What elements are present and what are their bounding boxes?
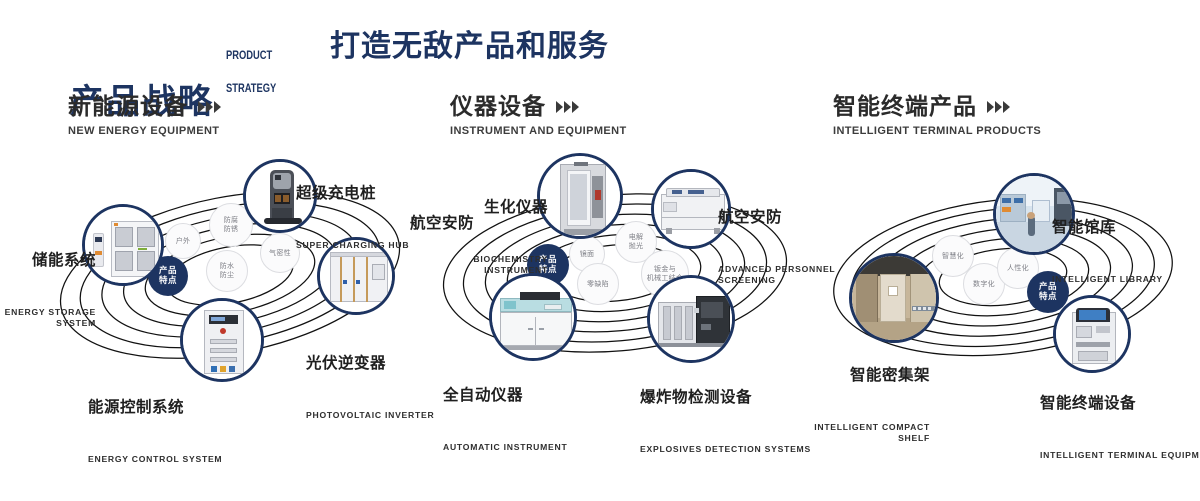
label-energy-storage: 储能系统 ENERGY STORAGE SYSTEM	[0, 215, 96, 365]
label-intelligent-library: 智能馆库 INTELLIGENT LIBRARY	[1052, 182, 1200, 321]
label-en: INTELLIGENT COMPACT SHELF	[790, 422, 930, 444]
label-cn: 全自动仪器	[443, 386, 633, 404]
label-biochemistry-instrument: 生化仪器 BIOCHEMISTRY INSTRUMENT	[418, 162, 548, 312]
label-en: BIOCHEMISTRY INSTRUMENT	[418, 254, 548, 276]
compact-shelf-photo	[852, 256, 936, 340]
label-en: INTELLIGENT LIBRARY	[1052, 274, 1200, 285]
label-cn: 生化仪器	[418, 198, 548, 216]
feature-bubble: 零缺陷	[577, 263, 619, 305]
label-en: INTELLIGENT TERMINAL EQUIPMENT	[1040, 450, 1200, 461]
biochemistry-instrument-photo	[540, 156, 620, 236]
section-title-en: INTELLIGENT TERMINAL PRODUCTS	[833, 125, 1041, 137]
label-cn: 储能系统	[0, 251, 96, 269]
label-automatic-instrument: 全自动仪器 AUTOMATIC INSTRUMENT	[443, 350, 633, 489]
label-energy-control-system: 能源控制系统 ENERGY CONTROL SYSTEM	[88, 362, 298, 501]
feature-bubble: 户外	[165, 223, 201, 259]
label-en: ENERGY STORAGE SYSTEM	[0, 307, 96, 329]
label-cn: 智能密集架	[790, 366, 930, 384]
page-title-en-line2: STRATEGY	[226, 83, 276, 94]
chevron-right-icon	[198, 101, 221, 113]
section-title-cn: 智能终端产品	[833, 96, 977, 119]
chevron-right-icon	[987, 101, 1010, 113]
section-title-cn: 新能源设备	[68, 96, 188, 119]
section-title-instrument: 仪器设备 INSTRUMENT AND EQUIPMENT	[450, 96, 627, 137]
label-en: ENERGY CONTROL SYSTEM	[88, 454, 298, 465]
page-title-en-line1: PRODUCT	[226, 50, 276, 61]
label-cn: 智能馆库	[1052, 218, 1200, 236]
energy-storage-photo	[85, 207, 161, 283]
section-title-new-energy: 新能源设备 NEW ENERGY EQUIPMENT	[68, 96, 221, 137]
chevron-right-icon	[556, 101, 579, 113]
page-title-en: PRODUCT STRATEGY	[226, 28, 276, 116]
feature-bubble: 防水 防尘	[206, 250, 248, 292]
product-strategy-infographic: 产品战略 PRODUCT STRATEGY 打造无敌产品和服务 新能源设备 NE…	[0, 0, 1200, 422]
section-title-en: NEW ENERGY EQUIPMENT	[68, 125, 221, 137]
section-title-intelligent-terminal: 智能终端产品 INTELLIGENT TERMINAL PRODUCTS	[833, 96, 1041, 137]
label-en: AUTOMATIC INSTRUMENT	[443, 442, 633, 453]
label-intelligent-terminal-equipment: 智能终端设备 INTELLIGENT TERMINAL EQUIPMENT	[1040, 358, 1200, 497]
label-cn: 智能终端设备	[1040, 394, 1200, 412]
node-biochemistry-instrument[interactable]	[537, 153, 623, 239]
label-cn: 能源控制系统	[88, 398, 298, 416]
section-title-en: INSTRUMENT AND EQUIPMENT	[450, 125, 627, 137]
page-subtitle: 打造无敌产品和服务	[330, 30, 609, 63]
personnel-screening-photo	[654, 172, 728, 246]
feature-bubble: 气密性	[260, 233, 300, 273]
label-intelligent-compact-shelf: 智能密集架 INTELLIGENT COMPACT SHELF	[790, 330, 930, 480]
section-title-cn: 仪器设备	[450, 96, 546, 119]
